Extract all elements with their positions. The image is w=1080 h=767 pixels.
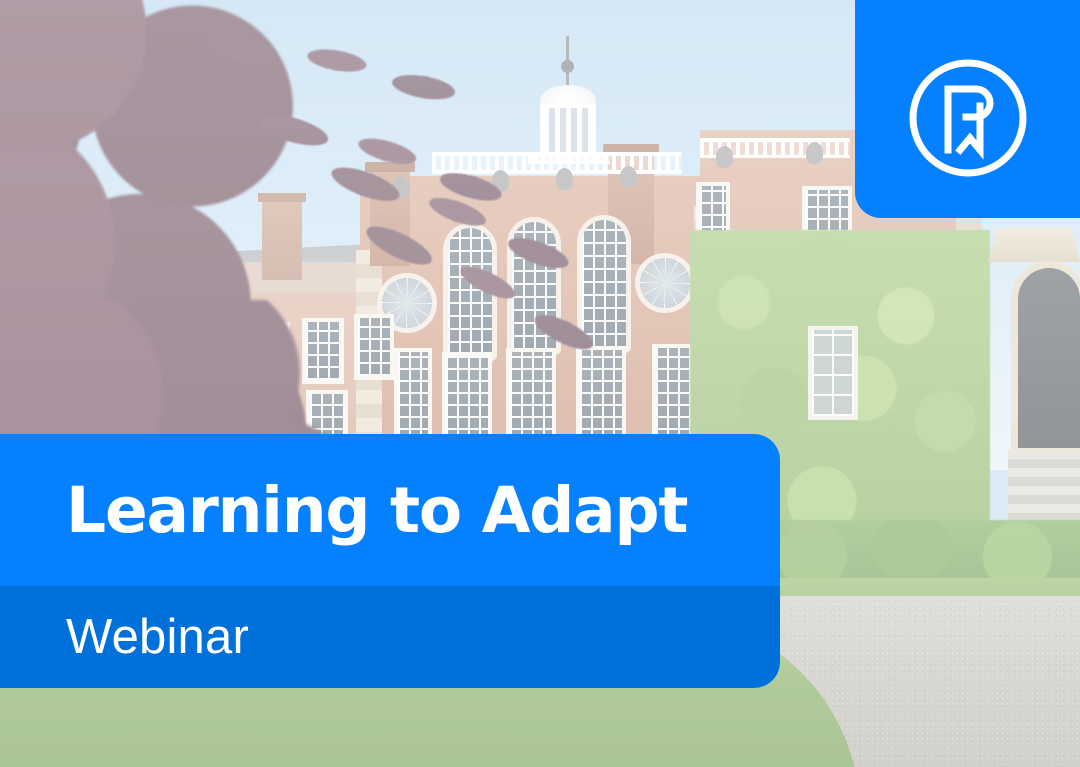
entrance-pediment xyxy=(988,228,1080,262)
roof-finial xyxy=(620,166,637,188)
entrance-steps xyxy=(1008,450,1080,530)
cupola-railing xyxy=(528,152,610,164)
webinar-promo-card: Learning to Adapt Webinar xyxy=(0,0,1080,767)
ivy-window xyxy=(812,330,854,416)
cupola-columns xyxy=(544,108,592,154)
brand-logo-badge[interactable] xyxy=(855,0,1080,218)
arched-entrance-door xyxy=(1018,268,1080,448)
cupola-finial-ball xyxy=(561,60,574,73)
page-title: Learning to Adapt xyxy=(66,479,687,542)
subtitle-band: Webinar xyxy=(0,586,780,688)
roof-finial xyxy=(716,146,733,168)
content-type-label: Webinar xyxy=(66,613,249,662)
sash-window xyxy=(510,352,552,442)
sash-window xyxy=(656,348,690,442)
roof-finial xyxy=(806,142,823,164)
roof-finial xyxy=(556,168,573,190)
oculus-window xyxy=(640,258,690,308)
sash-window xyxy=(446,356,488,442)
bookmark-r-logo-icon xyxy=(904,54,1032,182)
title-band: Learning to Adapt xyxy=(0,434,780,586)
